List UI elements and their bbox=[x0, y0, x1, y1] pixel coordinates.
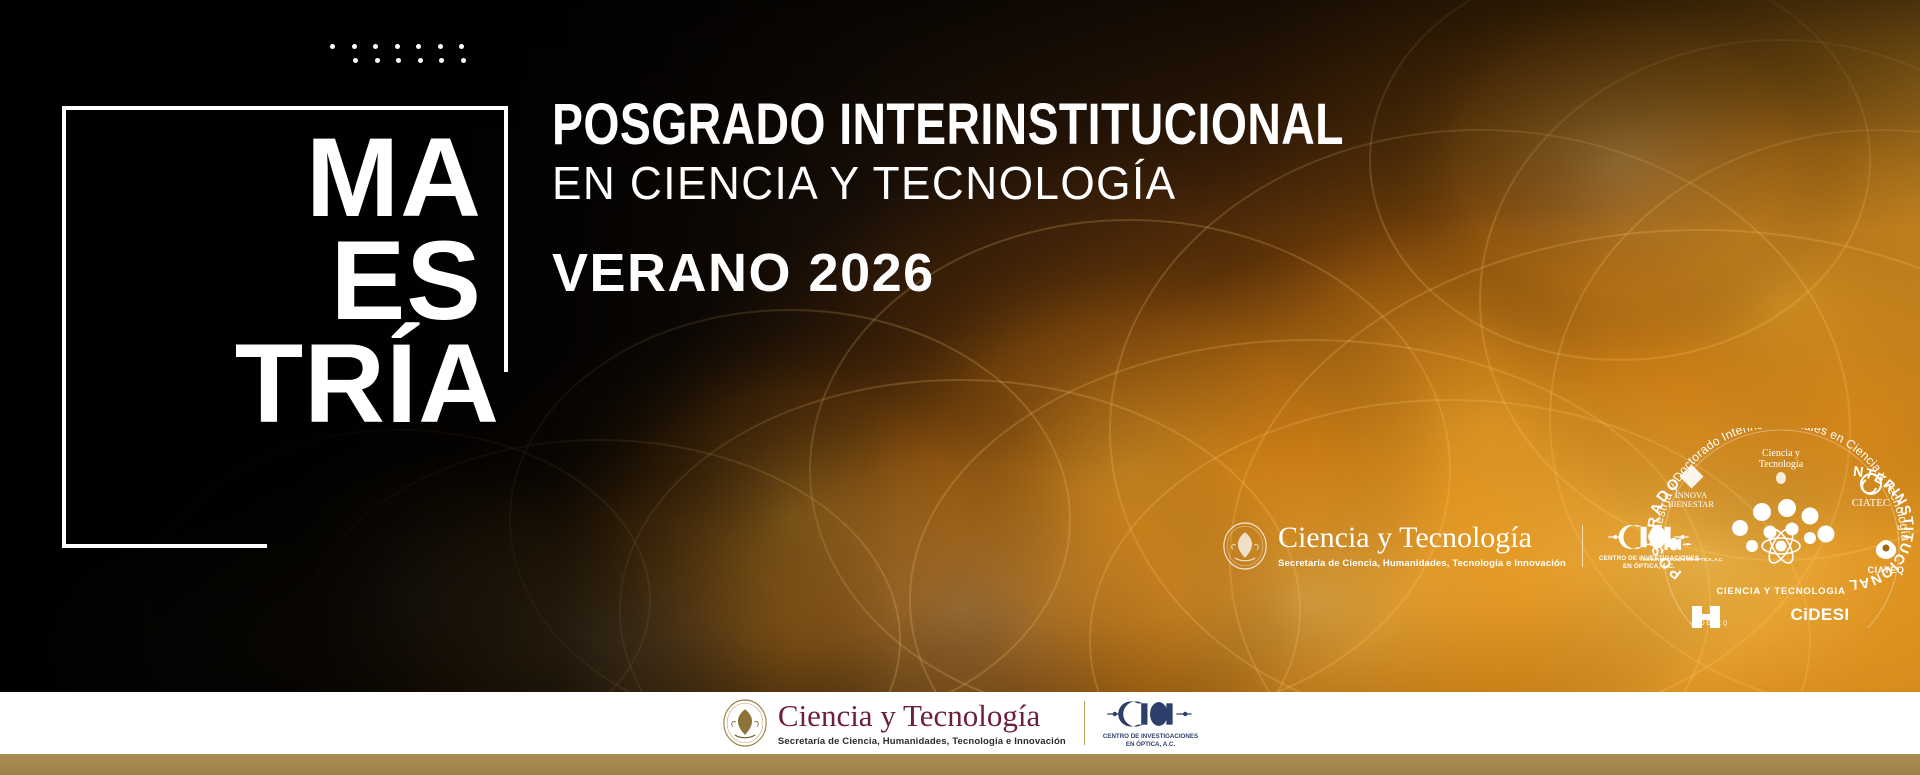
dot bbox=[438, 44, 443, 49]
hero-logo-title: Ciencia y Tecnología bbox=[1278, 523, 1566, 553]
dot bbox=[396, 58, 401, 63]
dot-row bbox=[330, 44, 550, 49]
badge-graphic: Maestría y Doctorado Interinstitucionale… bbox=[1640, 428, 1920, 628]
dot bbox=[353, 58, 358, 63]
badge-member-cideteq: CIDETEQ bbox=[1691, 606, 1729, 628]
cio-wordmark-icon bbox=[1106, 698, 1194, 730]
badge-member-label-line-1: CiDESI bbox=[1790, 605, 1849, 624]
badge-member-label-line-2: Tecnología bbox=[1759, 459, 1804, 470]
badge-member-label-line-1: CIATEC bbox=[1852, 497, 1891, 509]
dot-row bbox=[353, 58, 550, 63]
hero-background: MA ES TRÍA POSGRADO INTERINSTITUCIONAL E… bbox=[0, 0, 1920, 692]
footer-cio-caption-line-2: EN ÓPTICA, A.C. bbox=[1103, 741, 1198, 749]
badge-member-ciencia-tecnologia: Ciencia y Tecnología bbox=[1759, 448, 1804, 484]
headline-block: POSGRADO INTERINSTITUCIONAL EN CIENCIA Y… bbox=[552, 96, 1452, 304]
footer-logo-divider bbox=[1084, 701, 1085, 745]
badge-member-cidesi: CiDESI bbox=[1790, 605, 1849, 624]
dot bbox=[459, 44, 464, 49]
frame-top-rule bbox=[62, 106, 508, 110]
dot bbox=[375, 58, 380, 63]
frame-right-rule bbox=[504, 106, 508, 372]
footer-cio-caption-line-1: CENTRO DE INVESTIGACIONES bbox=[1103, 733, 1198, 741]
badge-member-label-line-1: CIDETEQ bbox=[1691, 621, 1729, 627]
hero-logo-subtitle: Secretaría de Ciencia, Humanidades, Tecn… bbox=[1278, 558, 1566, 569]
footer-logo-band: Ciencia y Tecnología Secretaría de Cienc… bbox=[0, 692, 1920, 754]
posgrado-interinstitucional-badge: Maestría y Doctorado Interinstitucionale… bbox=[1640, 428, 1920, 628]
maestria-wordmark: MA ES TRÍA bbox=[62, 126, 482, 435]
maestria-line-1: MA bbox=[62, 126, 482, 229]
dot bbox=[373, 44, 378, 49]
headline-secondary: EN CIENCIA Y TECNOLOGÍA bbox=[552, 158, 1416, 210]
dot bbox=[461, 58, 466, 63]
dot bbox=[439, 58, 444, 63]
badge-member-label-line-2: BIENESTAR bbox=[1668, 499, 1714, 509]
dot-grid-decoration bbox=[330, 44, 550, 80]
frame-bottom-rule bbox=[62, 544, 267, 548]
dot bbox=[352, 44, 357, 49]
footer-cio-logo: CENTRO DE INVESTIGACIONES EN ÓPTICA, A.C… bbox=[1103, 698, 1198, 749]
dot bbox=[418, 58, 423, 63]
dot bbox=[330, 44, 335, 49]
mexico-coat-of-arms-icon bbox=[722, 699, 768, 747]
badge-member-label-line-1: CIATEQ bbox=[1868, 565, 1905, 575]
badge-member-label-line-1: Ciencia y bbox=[1762, 448, 1800, 459]
logo-divider bbox=[1582, 525, 1583, 567]
hero-logo-lockup: Ciencia y Tecnología Secretaría de Cienc… bbox=[1222, 516, 1699, 576]
footer-logo-lockup: Ciencia y Tecnología Secretaría de Cienc… bbox=[722, 698, 1198, 749]
headline-primary: POSGRADO INTERINSTITUCIONAL bbox=[552, 96, 1272, 154]
dot bbox=[416, 44, 421, 49]
maestria-line-3: TRÍA bbox=[62, 332, 500, 435]
season-label: VERANO 2026 bbox=[552, 242, 1452, 304]
badge-center-subtitle: CIENCIA Y TECNOLOGIA bbox=[1716, 586, 1845, 597]
footer-logo-title: Ciencia y Tecnología bbox=[778, 700, 1066, 731]
footer-logo-subtitle: Secretaría de Ciencia, Humanidades, Tecn… bbox=[778, 736, 1066, 747]
mexico-coat-of-arms-icon bbox=[1222, 522, 1268, 570]
badge-member-label-line-2: CENTRO DE INVESTIGACIONES EN ÓPTICA, A.C… bbox=[1640, 555, 1723, 562]
dot bbox=[395, 44, 400, 49]
maestria-line-2: ES bbox=[62, 229, 482, 332]
footer-gold-bar bbox=[0, 754, 1920, 775]
promo-banner: MA ES TRÍA POSGRADO INTERINSTITUCIONAL E… bbox=[0, 0, 1920, 775]
